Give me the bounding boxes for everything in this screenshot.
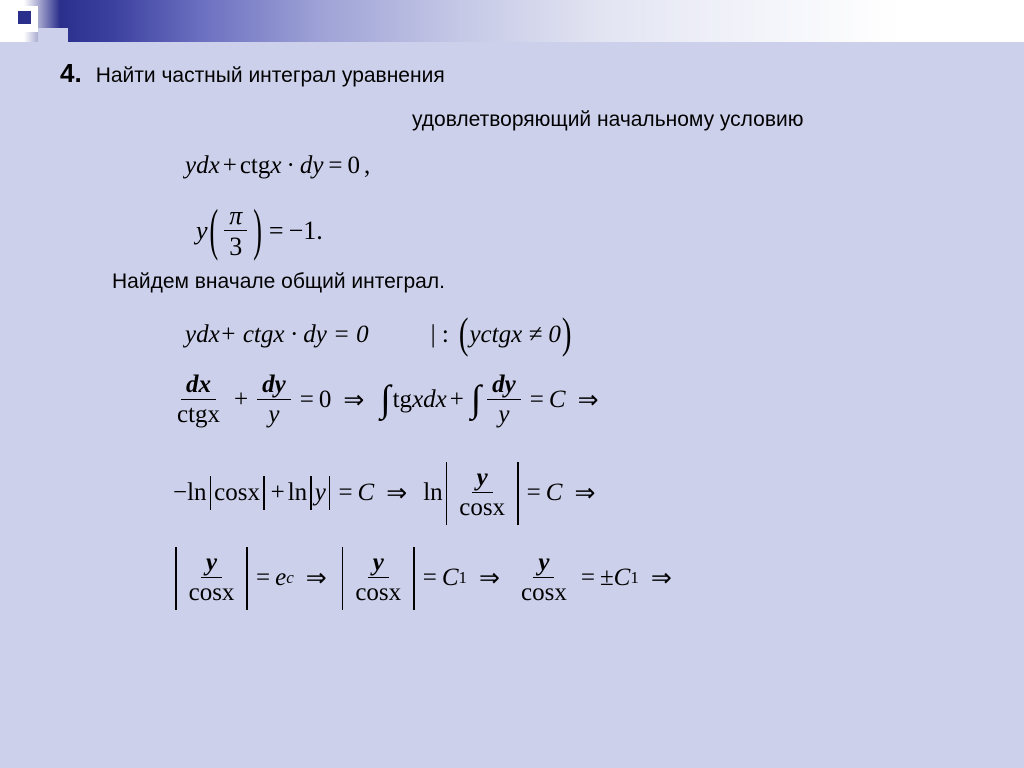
equation-5: − ln cosx + ln y = C ⇒ ln y cosx = C ⇒ [173, 462, 607, 525]
eq2-equals: = [269, 216, 284, 246]
eq5-equals-2: = [527, 479, 541, 507]
eq4-zero: 0 [319, 386, 332, 414]
eq5-fraction-y-cosx: y cosx [454, 465, 510, 522]
equation-6: y cosx = ec ⇒ y cosx = C1 ⇒ y cosx = ±C1… [172, 547, 684, 610]
eq1-plus: + [223, 152, 237, 180]
eq4-frac3-num: dy [487, 372, 521, 400]
eq6-absbar-close-2 [413, 547, 415, 610]
eq2-lparen: ( [210, 198, 219, 264]
eq4-fraction-dy-y: dy y [257, 372, 291, 429]
slide-title-row: 4. Найти частный интеграл уравнения [60, 58, 445, 89]
eq4-C: C [549, 386, 566, 414]
eq5-cosx: cosx [214, 479, 260, 507]
eq1-dot: · [286, 152, 294, 180]
eq6-equals-2: = [423, 564, 437, 592]
eq4-equals: = [300, 386, 314, 414]
eq6-C1-subscript: 1 [459, 568, 468, 588]
eq5-absbar-close-1 [263, 476, 265, 510]
eq1-x: x [270, 152, 281, 180]
eq6-fraction-3: y cosx [516, 550, 572, 607]
eq4-frac1-den: ctgx [172, 400, 225, 428]
eq6-exponent: c [286, 568, 294, 588]
eq6-frac2-den: cosx [350, 578, 406, 606]
eq2-y: y [196, 216, 208, 246]
eq6-C2: C [614, 564, 631, 592]
eq3-lparen: ( [459, 310, 469, 360]
equation-1: ydx + ctgx · dy = 0 , [185, 152, 370, 180]
eq1-equals: = [328, 152, 342, 180]
header-gradient-band [0, 0, 1024, 42]
eq1-comma: , [364, 152, 370, 180]
eq6-C2-subscript: 1 [630, 568, 639, 588]
eq4-frac2-den: y [263, 400, 284, 428]
eq4-equals-2: = [530, 386, 544, 414]
eq6-frac3-den: cosx [516, 578, 572, 606]
eq5-implies-2: ⇒ [574, 478, 595, 508]
eq2-value: −1. [289, 216, 323, 246]
eq6-pm: ± [600, 564, 614, 592]
eq6-frac2-num: y [368, 550, 389, 578]
eq6-implies-2: ⇒ [479, 563, 500, 593]
eq5-C: C [358, 479, 375, 507]
intermediate-note: Найдем вначале общий интеграл. [112, 270, 445, 294]
eq1-zero: 0 [348, 152, 361, 180]
eq5-y: y [315, 479, 326, 507]
eq3-left: ydx+ ctgx · dy = 0 [185, 321, 369, 349]
equation-4: dx ctgx + dy y = 0 ⇒ ∫ tgxdx + ∫ dy y = … [168, 372, 611, 429]
eq6-C1: C [442, 564, 459, 592]
equation-2: y ( π 3 ) = −1. [196, 202, 323, 261]
slide-subtitle: удовлетворяющий начальному условию [412, 108, 803, 132]
eq6-frac3-num: y [533, 550, 554, 578]
eq4-fraction-dx-ctgx: dx ctgx [172, 372, 225, 429]
eq5-plus: + [271, 479, 285, 507]
eq5-implies: ⇒ [386, 478, 407, 508]
equation-3: ydx+ ctgx · dy = 0 | : ( yctgx ≠ 0 ) [185, 318, 573, 351]
eq5-minus: − [173, 479, 187, 507]
eq4-frac3-den: y [493, 400, 514, 428]
eq3-divider: | : [431, 321, 449, 349]
eq6-fraction-2: y cosx [350, 550, 406, 607]
eq5-ln-3: ln [423, 479, 442, 507]
slide-number: 4. [60, 58, 82, 89]
eq5-absbar-open-3 [446, 462, 448, 525]
eq6-absbar-open-2 [342, 547, 344, 610]
eq5-ln-2: ln [288, 479, 307, 507]
eq4-implies-2: ⇒ [578, 385, 599, 415]
eq5-absbar-open-1 [210, 476, 212, 510]
eq2-three: 3 [224, 231, 247, 260]
eq6-implies: ⇒ [306, 563, 327, 593]
band-square-dark [18, 11, 31, 24]
eq5-frac-num: y [472, 465, 493, 493]
eq1-dx: dx [196, 152, 220, 180]
eq5-ln-1: ln [187, 479, 206, 507]
eq6-equals: = [256, 564, 270, 592]
eq5-frac-den: cosx [454, 493, 510, 521]
eq2-pi: π [224, 202, 247, 231]
eq1-y: y [185, 152, 196, 180]
slide-content: 4. Найти частный интеграл уравнения удов… [0, 42, 1024, 768]
eq6-fraction-1: y cosx [184, 550, 240, 607]
eq5-absbar-open-2 [310, 476, 312, 510]
eq5-C-2: C [546, 479, 563, 507]
eq4-xdx: xdx [412, 386, 447, 414]
eq4-tg: tg [393, 386, 412, 414]
eq3-rparen: ) [562, 310, 572, 360]
eq1-dy: dy [300, 152, 324, 180]
eq4-frac2-num: dy [257, 372, 291, 400]
eq5-absbar-close-2 [329, 476, 331, 510]
eq5-absbar-close-3 [517, 462, 519, 525]
eq4-implies: ⇒ [343, 385, 364, 415]
eq4-fraction-dy-y-2: dy y [487, 372, 521, 429]
page-title: Найти частный интеграл уравнения [96, 64, 445, 88]
eq2-fraction: π 3 [224, 202, 247, 261]
eq2-rparen: ) [253, 198, 262, 264]
eq6-absbar-open-1 [175, 547, 177, 610]
eq6-equals-3: = [581, 564, 595, 592]
eq5-equals: = [338, 479, 352, 507]
eq4-plus-2: + [450, 386, 464, 414]
eq3-condition: yctgx ≠ 0 [469, 321, 560, 349]
eq6-implies-3: ⇒ [651, 563, 672, 593]
eq6-e: e [275, 564, 286, 592]
eq4-integral-1: ∫ [380, 385, 390, 415]
eq4-plus: + [234, 386, 248, 414]
eq6-frac1-den: cosx [184, 578, 240, 606]
eq4-frac1-num: dx [181, 372, 216, 400]
eq1-ctg: ctg [240, 152, 271, 180]
eq6-absbar-close-1 [246, 547, 248, 610]
eq6-frac1-num: y [201, 550, 222, 578]
eq4-integral-2: ∫ [471, 385, 481, 415]
